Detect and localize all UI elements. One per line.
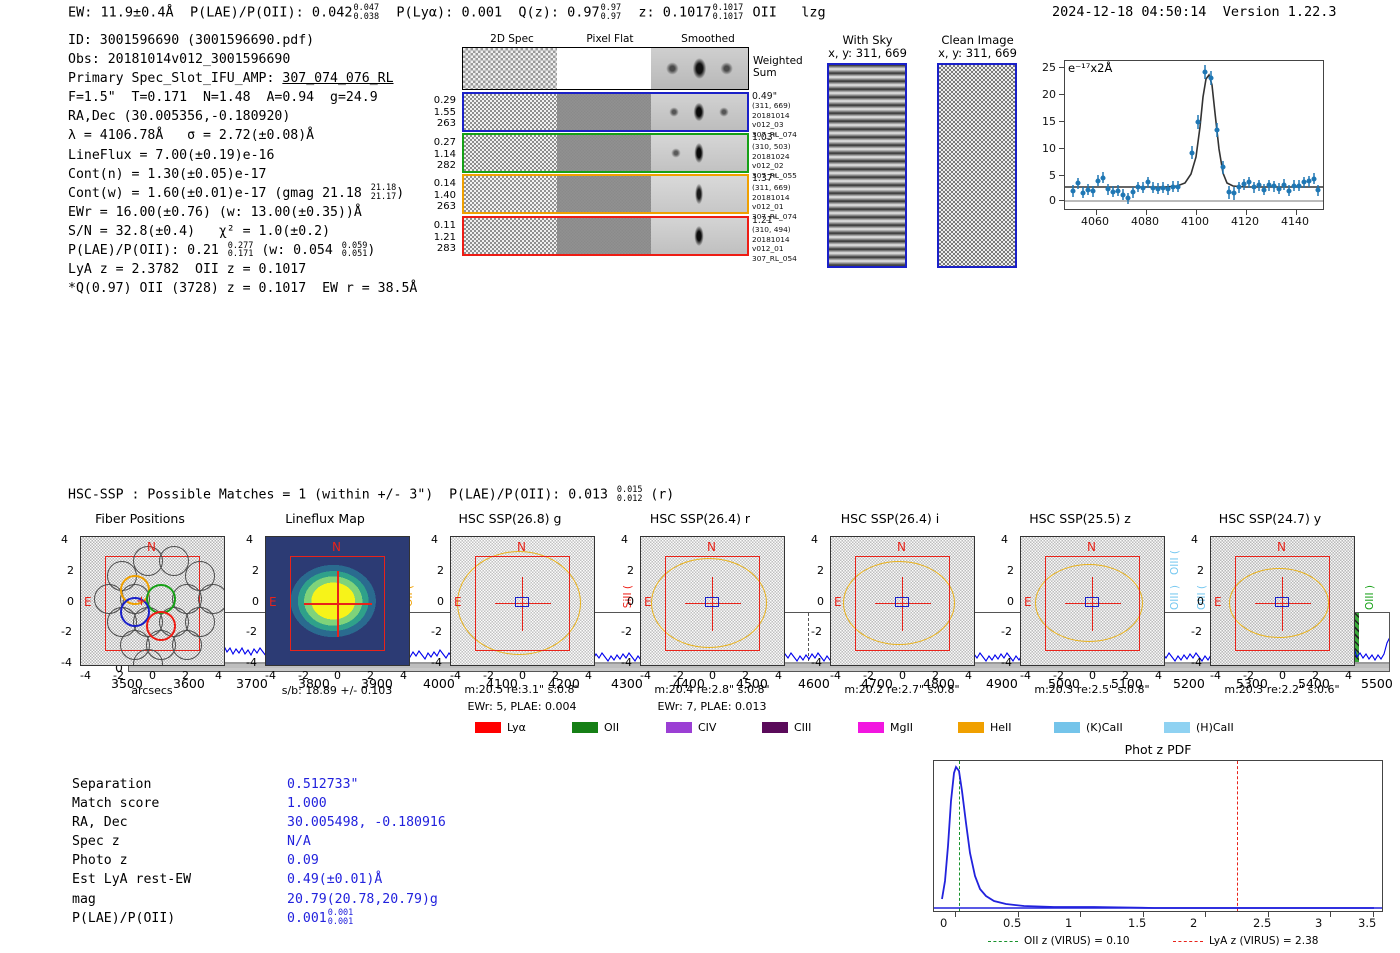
compass-n: N <box>517 540 526 554</box>
cutout-title: Fiber Positions <box>60 511 220 526</box>
summary-value: 0.09 <box>287 851 446 870</box>
cutout-caption-1: m:20.5 re:3.1" s:0.8" <box>437 683 607 696</box>
spec-row-3 <box>462 174 749 214</box>
summary-key: mag <box>72 890 191 909</box>
summary-value: N/A <box>287 832 446 851</box>
info-cont-w-post: ) <box>396 186 404 201</box>
info-cont-n: Cont(n) = 1.30(±0.05)e-17 <box>68 165 417 184</box>
header-flag: lzg <box>801 5 825 21</box>
with-sky-image <box>827 63 907 268</box>
header-qz-value: 0.97 <box>567 5 600 21</box>
compass-n: N <box>707 540 716 554</box>
compass-e: E <box>644 595 652 609</box>
cutout-xlabel: arcsecs <box>67 684 237 697</box>
info-radec: RA,Dec (30.005356,-0.180920) <box>68 107 417 126</box>
compass-e: E <box>1024 595 1032 609</box>
summary-key: Match score <box>72 794 191 813</box>
summary-key: Photo z <box>72 851 191 870</box>
dashed-line-red-icon <box>1173 941 1203 942</box>
cutout-caption-2: EWr: 5, PLAE: 0.004 <box>437 700 607 713</box>
clean-image-coords: x, y: 311, 669 <box>930 46 1025 60</box>
hsc-i-image[interactable]: N E <box>830 536 975 666</box>
phot-z-pdf-panel: Phot z PDF 0 0.5 1 1.5 2 2.5 3 3.5 OII z… <box>930 742 1386 947</box>
header-plae-label: P(LAE)/P(OII): <box>190 5 304 21</box>
col-title-2d-spec: 2D Spec <box>462 33 562 45</box>
fiber-highlight-red <box>146 611 176 641</box>
info-ewr: EWr = 16.00(±0.76) (w: 13.00(±0.35))Å <box>68 203 417 222</box>
header-ew-label: EW: <box>68 5 92 21</box>
header-summary-line: EW: 11.9±0.4Å P(LAE)/P(OII): 0.0420.0470… <box>68 4 826 21</box>
summary-plae-range: 0.0010.001 <box>328 909 354 926</box>
header-z-type: OII <box>752 5 776 21</box>
cutout-title: Lineflux Map <box>245 511 405 526</box>
row-stats-4: 0.111.21283 <box>412 220 456 255</box>
summary-key: Est LyA rest-EW <box>72 870 191 889</box>
header-z-label: z: <box>638 5 654 21</box>
info-primary-spec: Primary Spec_Slot_IFU_AMP: 307_074_076_R… <box>68 69 417 88</box>
info-primary-prefix: Primary Spec_Slot_IFU_AMP: <box>68 71 282 86</box>
with-sky-title: With Sky <box>820 33 915 47</box>
hsc-plae-range: 0.0150.012 <box>617 486 643 503</box>
cutout-caption-1: m:20.4 re:2.8" s:0.8" <box>627 683 797 696</box>
compass-e: E <box>834 595 842 609</box>
info-plae-post: ) <box>367 243 375 258</box>
fiber-positions-image[interactable]: N E + <box>80 536 225 666</box>
header-ew-value: 11.9±0.4Å <box>101 5 174 21</box>
phot-z-axes <box>933 760 1383 912</box>
cutout-hsc-i: HSC SSP(26.4) i 4 2 0 -2 -4 N E -4 -2 0 … <box>805 511 975 726</box>
hsc-y-image[interactable]: N E <box>1210 536 1355 666</box>
hsc-r-blue-marker <box>705 597 719 607</box>
compass-e: E <box>454 595 462 609</box>
compass-n: N <box>332 540 341 554</box>
compass-n: N <box>147 540 156 554</box>
info-plae-range: 0.2770.171 <box>228 242 254 259</box>
compass-n: N <box>1277 540 1286 554</box>
cutout-hsc-z: HSC SSP(25.5) z 4 2 0 -2 -4 N E -4 -2 0 … <box>995 511 1165 726</box>
summary-key: Spec z <box>72 832 191 851</box>
phot-z-svg <box>934 761 1382 911</box>
cutout-caption-2: EWr: 7, PLAE: 0.013 <box>627 700 797 713</box>
emission-line-plot: e⁻¹⁷x2Å <box>1032 58 1332 248</box>
weighted-sum-label: Weighted Sum <box>753 55 803 79</box>
version-label: Version 1.22.3 <box>1223 4 1337 20</box>
cutout-title: HSC SSP(25.5) z <box>1000 511 1160 526</box>
summary-value: 1.000 <box>287 794 446 813</box>
clean-image-title: Clean Image <box>930 33 1025 47</box>
emission-plot-svg <box>1065 61 1323 209</box>
cutout-caption-1: m:20.3 re:2.5" s:0.8" <box>1007 683 1177 696</box>
row-stats-3: 0.141.40263 <box>412 178 456 213</box>
compass-n: N <box>897 540 906 554</box>
info-obs: Obs: 20181014v012_3001596690 <box>68 50 417 69</box>
cutout-title: HSC SSP(24.7) y <box>1190 511 1350 526</box>
info-lineflux: LineFlux = 7.00(±0.19)e-16 <box>68 146 417 165</box>
info-id: ID: 3001596690 (3001596690.pdf) <box>68 31 417 50</box>
cutout-fiber-positions: Fiber Positions 4 2 0 -2 -4 N E + -4 -2 … <box>55 511 225 711</box>
compass-e: E <box>269 595 277 609</box>
spec-row-2 <box>462 133 749 173</box>
dashed-line-green-icon <box>988 941 1018 942</box>
row-meta-4: 1.21" (310, 494) 20181014 v012_01 307_RL… <box>752 216 797 263</box>
hsc-r-image[interactable]: N E <box>640 536 785 666</box>
lineflux-map-image[interactable]: N E <box>265 536 410 666</box>
header-plae-range: 0.0470.038 <box>354 4 380 21</box>
cutout-caption-1: m:20.2 re:2.7" s:0.8" <box>817 683 987 696</box>
hsc-g-image[interactable]: N E <box>450 536 595 666</box>
compass-e: E <box>1214 595 1222 609</box>
header-plae-value: 0.042 <box>312 5 353 21</box>
cutout-caption-1: s/b: 18.89 +/- 0.103 <box>252 684 422 697</box>
emission-plot-frame: e⁻¹⁷x2Å <box>1064 60 1324 210</box>
header-plya-value: 0.001 <box>461 5 502 21</box>
summary-value: 0.512733" <box>287 775 446 794</box>
cutout-caption-1: m:20.3 re:2.2" s:0.6" <box>1197 683 1367 696</box>
hsc-g-blue-marker <box>515 597 529 607</box>
info-plae: P(LAE)/P(OII): 0.21 0.2770.171 (w: 0.054… <box>68 241 417 260</box>
row-stats-1: 0.291.55263 <box>412 95 456 130</box>
compass-n: N <box>1087 540 1096 554</box>
cutout-title: HSC SSP(26.4) i <box>810 511 970 526</box>
info-cont-w: Cont(w) = 1.60(±0.01)e-17 (gmag 21.18 21… <box>68 184 417 203</box>
with-sky-coords: x, y: 311, 669 <box>820 46 915 60</box>
header-timestamp-version: 2024-12-18 04:50:14 Version 1.22.3 <box>1052 4 1337 20</box>
header-plya-label: P(Lyα): <box>396 5 453 21</box>
cutout-hsc-g: HSC SSP(26.8) g 4 2 0 -2 -4 N E -4 -2 0 … <box>425 511 595 726</box>
phot-z-title: Phot z PDF <box>930 742 1386 757</box>
summary-values-column: 0.512733" 1.000 30.005498, -0.180916 N/A… <box>287 775 446 928</box>
compass-e: E <box>84 595 92 609</box>
info-plae-mid: (w: 0.054 <box>253 243 340 258</box>
summary-value: 20.79(20.78,20.79)g <box>287 890 446 909</box>
timestamp: 2024-12-18 04:50:14 <box>1052 4 1206 20</box>
summary-key: Separation <box>72 775 191 794</box>
info-cont-w-pre: Cont(w) = 1.60(±0.01)e-17 (gmag 21.18 <box>68 186 370 201</box>
summary-value: 30.005498, -0.180916 <box>287 813 446 832</box>
hsc-z-image[interactable]: N E <box>1020 536 1165 666</box>
spec-row-1 <box>462 92 749 132</box>
weighted-sum-panel <box>462 47 749 90</box>
info-sn-chi2: S/N = 32.8(±0.4) χ² = 1.0(±0.2) <box>68 222 417 241</box>
row-stats-2: 0.271.14282 <box>412 137 456 172</box>
header-qz-range: 0.970.97 <box>601 4 621 21</box>
hsc-z-blue-marker <box>1085 597 1099 607</box>
phot-z-legend-lya: LyA z (VIRUS) = 2.38 <box>1173 935 1318 947</box>
info-primary-value: 307_074_076_RL <box>282 71 393 86</box>
col-title-smoothed: Smoothed <box>658 33 758 45</box>
info-params: F=1.5" T=0.171 N=1.48 A=0.94 g=24.9 <box>68 88 417 107</box>
header-z-value: 0.1017 <box>663 5 712 21</box>
info-lambda-sigma: λ = 4106.78Å σ = 2.72(±0.08)Å <box>68 126 417 145</box>
info-gmag-range: 21.1821.17 <box>371 184 397 201</box>
cutout-title: HSC SSP(26.8) g <box>430 511 590 526</box>
two-d-spectra-grid: 2D Spec Pixel Flat Smoothed Weighted Sum… <box>462 33 782 255</box>
cutout-hsc-r: HSC SSP(26.4) r 4 2 0 -2 -4 N E -4 -2 0 … <box>615 511 785 726</box>
col-title-pixel-flat: Pixel Flat <box>560 33 660 45</box>
row-meta-3: 1.37" (311, 669) 20181014 v012_01 307_RL… <box>752 174 797 221</box>
phot-z-legend-oii: OII z (VIRUS) = 0.10 <box>988 935 1130 947</box>
spec-row-4 <box>462 216 749 256</box>
summary-value-plae: 0.0010.0010.001 <box>287 909 446 928</box>
cutout-lineflux-map: Lineflux Map 4 2 0 -2 -4 N E -4 -2 0 2 4… <box>240 511 410 711</box>
summary-key: RA, Dec <box>72 813 191 832</box>
target-marker: + <box>136 594 147 609</box>
clean-image-data <box>937 63 1017 268</box>
full-spectrum-panel: SiIV ( CIII ( OII ( OIII ( OII ) ( OVI (… <box>60 272 1400 472</box>
hsc-i-blue-marker <box>895 597 909 607</box>
info-plae-w-range: 0.0590.051 <box>342 242 368 259</box>
hsc-y-blue-marker <box>1275 597 1289 607</box>
cutout-title: HSC SSP(26.4) r <box>620 511 780 526</box>
info-plae-pre: P(LAE)/P(OII): 0.21 <box>68 243 227 258</box>
summary-keys-column: Separation Match score RA, Dec Spec z Ph… <box>72 775 191 928</box>
detection-info-block: ID: 3001596690 (3001596690.pdf) Obs: 201… <box>68 31 417 298</box>
header-qz-label: Q(z): <box>518 5 559 21</box>
cutout-hsc-y: HSC SSP(24.7) y 4 2 0 -2 -4 N E -4 -2 0 … <box>1185 511 1355 726</box>
lineflux-crosshair-v <box>337 571 339 637</box>
fiber-highlight-green <box>146 584 176 614</box>
summary-key: P(LAE)/P(OII) <box>72 909 191 928</box>
hsc-ssp-title: HSC-SSP : Possible Matches = 1 (within +… <box>68 486 674 503</box>
summary-value: 0.49(±0.01)Å <box>287 870 446 889</box>
header-z-range: 0.10170.1017 <box>713 4 744 21</box>
